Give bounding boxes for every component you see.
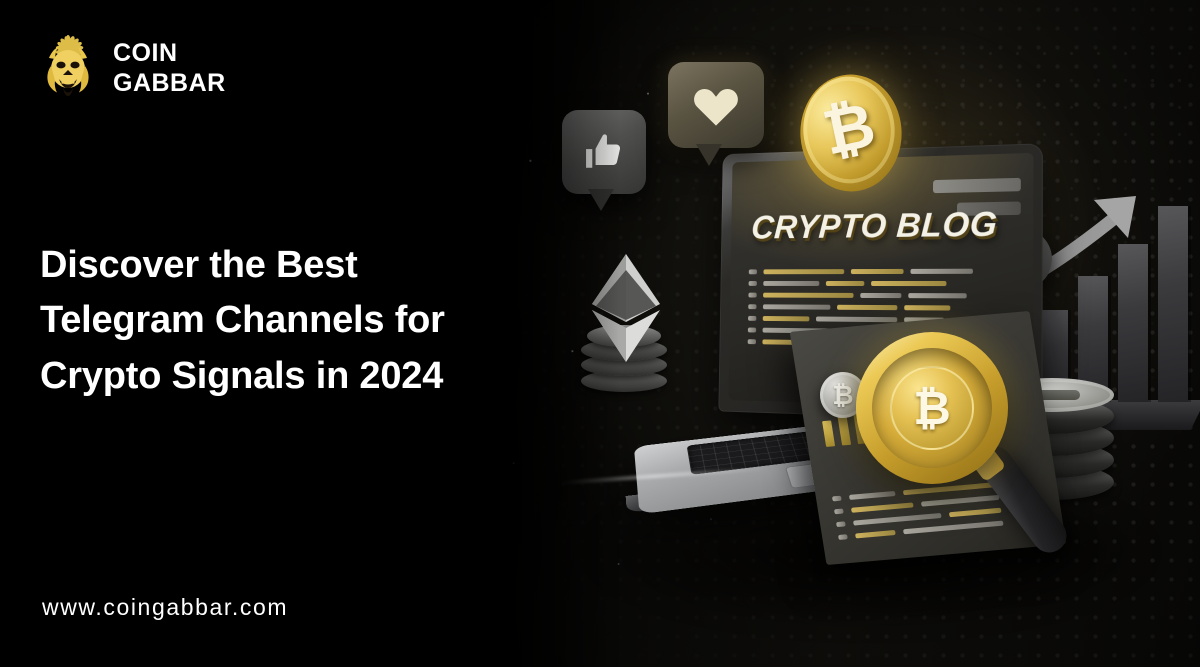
thumbs-up-bubble-icon [562, 110, 646, 194]
brand-name-line1: COIN [113, 41, 226, 66]
lion-head-icon [37, 32, 99, 104]
bitcoin-symbol: ₿ [818, 94, 880, 165]
magnifier-bitcoin-icon: ₿ [856, 332, 1008, 484]
headline-line-2: Telegram Channels for [40, 293, 600, 348]
blog-banner: CRYPTO BLOG [0, 0, 1200, 667]
bitcoin-coin-icon: ₿ [800, 75, 902, 191]
laptop-screen-title: CRYPTO BLOG [750, 205, 1015, 248]
illustration: CRYPTO BLOG [520, 0, 1200, 667]
website-url[interactable]: www.coingabbar.com [42, 594, 288, 621]
brand-logo[interactable]: COIN GABBAR [37, 32, 226, 104]
heart-bubble-icon [668, 62, 764, 148]
brand-name: COIN GABBAR [113, 41, 226, 96]
headline-line-1: Discover the Best [40, 238, 600, 293]
page-title: Discover the Best Telegram Channels for … [40, 238, 600, 404]
brand-name-line2: GABBAR [113, 71, 226, 96]
headline-line-3: Crypto Signals in 2024 [40, 349, 600, 404]
magnifier-bitcoin-symbol: ₿ [890, 366, 974, 450]
